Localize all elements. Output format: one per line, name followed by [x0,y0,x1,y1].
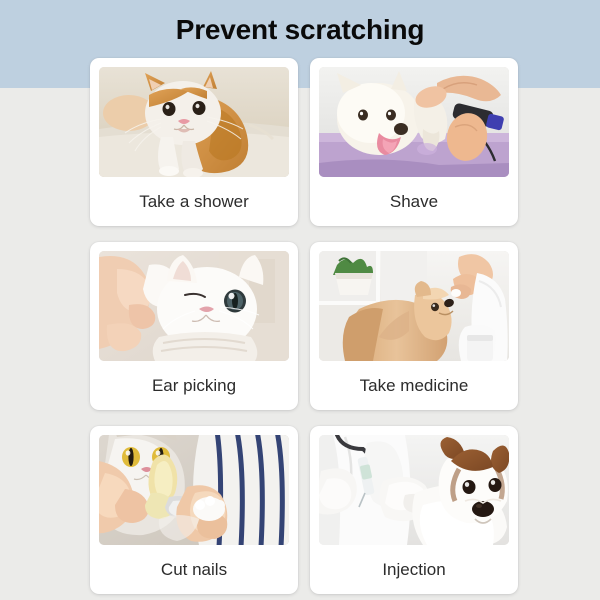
card-label: Ear picking [99,361,289,410]
card-take-a-shower[interactable]: Take a shower [90,58,298,226]
card-take-medicine[interactable]: Take medicine [310,242,518,410]
tan-dog-receiving-pill-photo [319,251,509,361]
card-injection[interactable]: Injection [310,426,518,594]
wet-orange-cat-in-bathtub-photo [99,67,289,177]
card-ear-picking[interactable]: Ear picking [90,242,298,410]
card-shave[interactable]: Shave [310,58,518,226]
promo-graphic: Prevent scratching [0,0,600,600]
jack-russell-terrier-vaccination-photo [319,435,509,545]
card-label: Take a shower [99,177,289,226]
card-label: Injection [319,545,509,594]
page-title: Prevent scratching [0,13,600,47]
card-cut-nails[interactable]: Cut nails [90,426,298,594]
hand-cleaning-white-cat-ear-photo [99,251,289,361]
card-label: Cut nails [99,545,289,594]
card-label: Take medicine [319,361,509,410]
feature-card-grid: Take a shower [90,58,518,594]
white-pomeranian-being-clipped-photo [319,67,509,177]
card-label: Shave [319,177,509,226]
cat-nails-being-clipped-photo [99,435,289,545]
